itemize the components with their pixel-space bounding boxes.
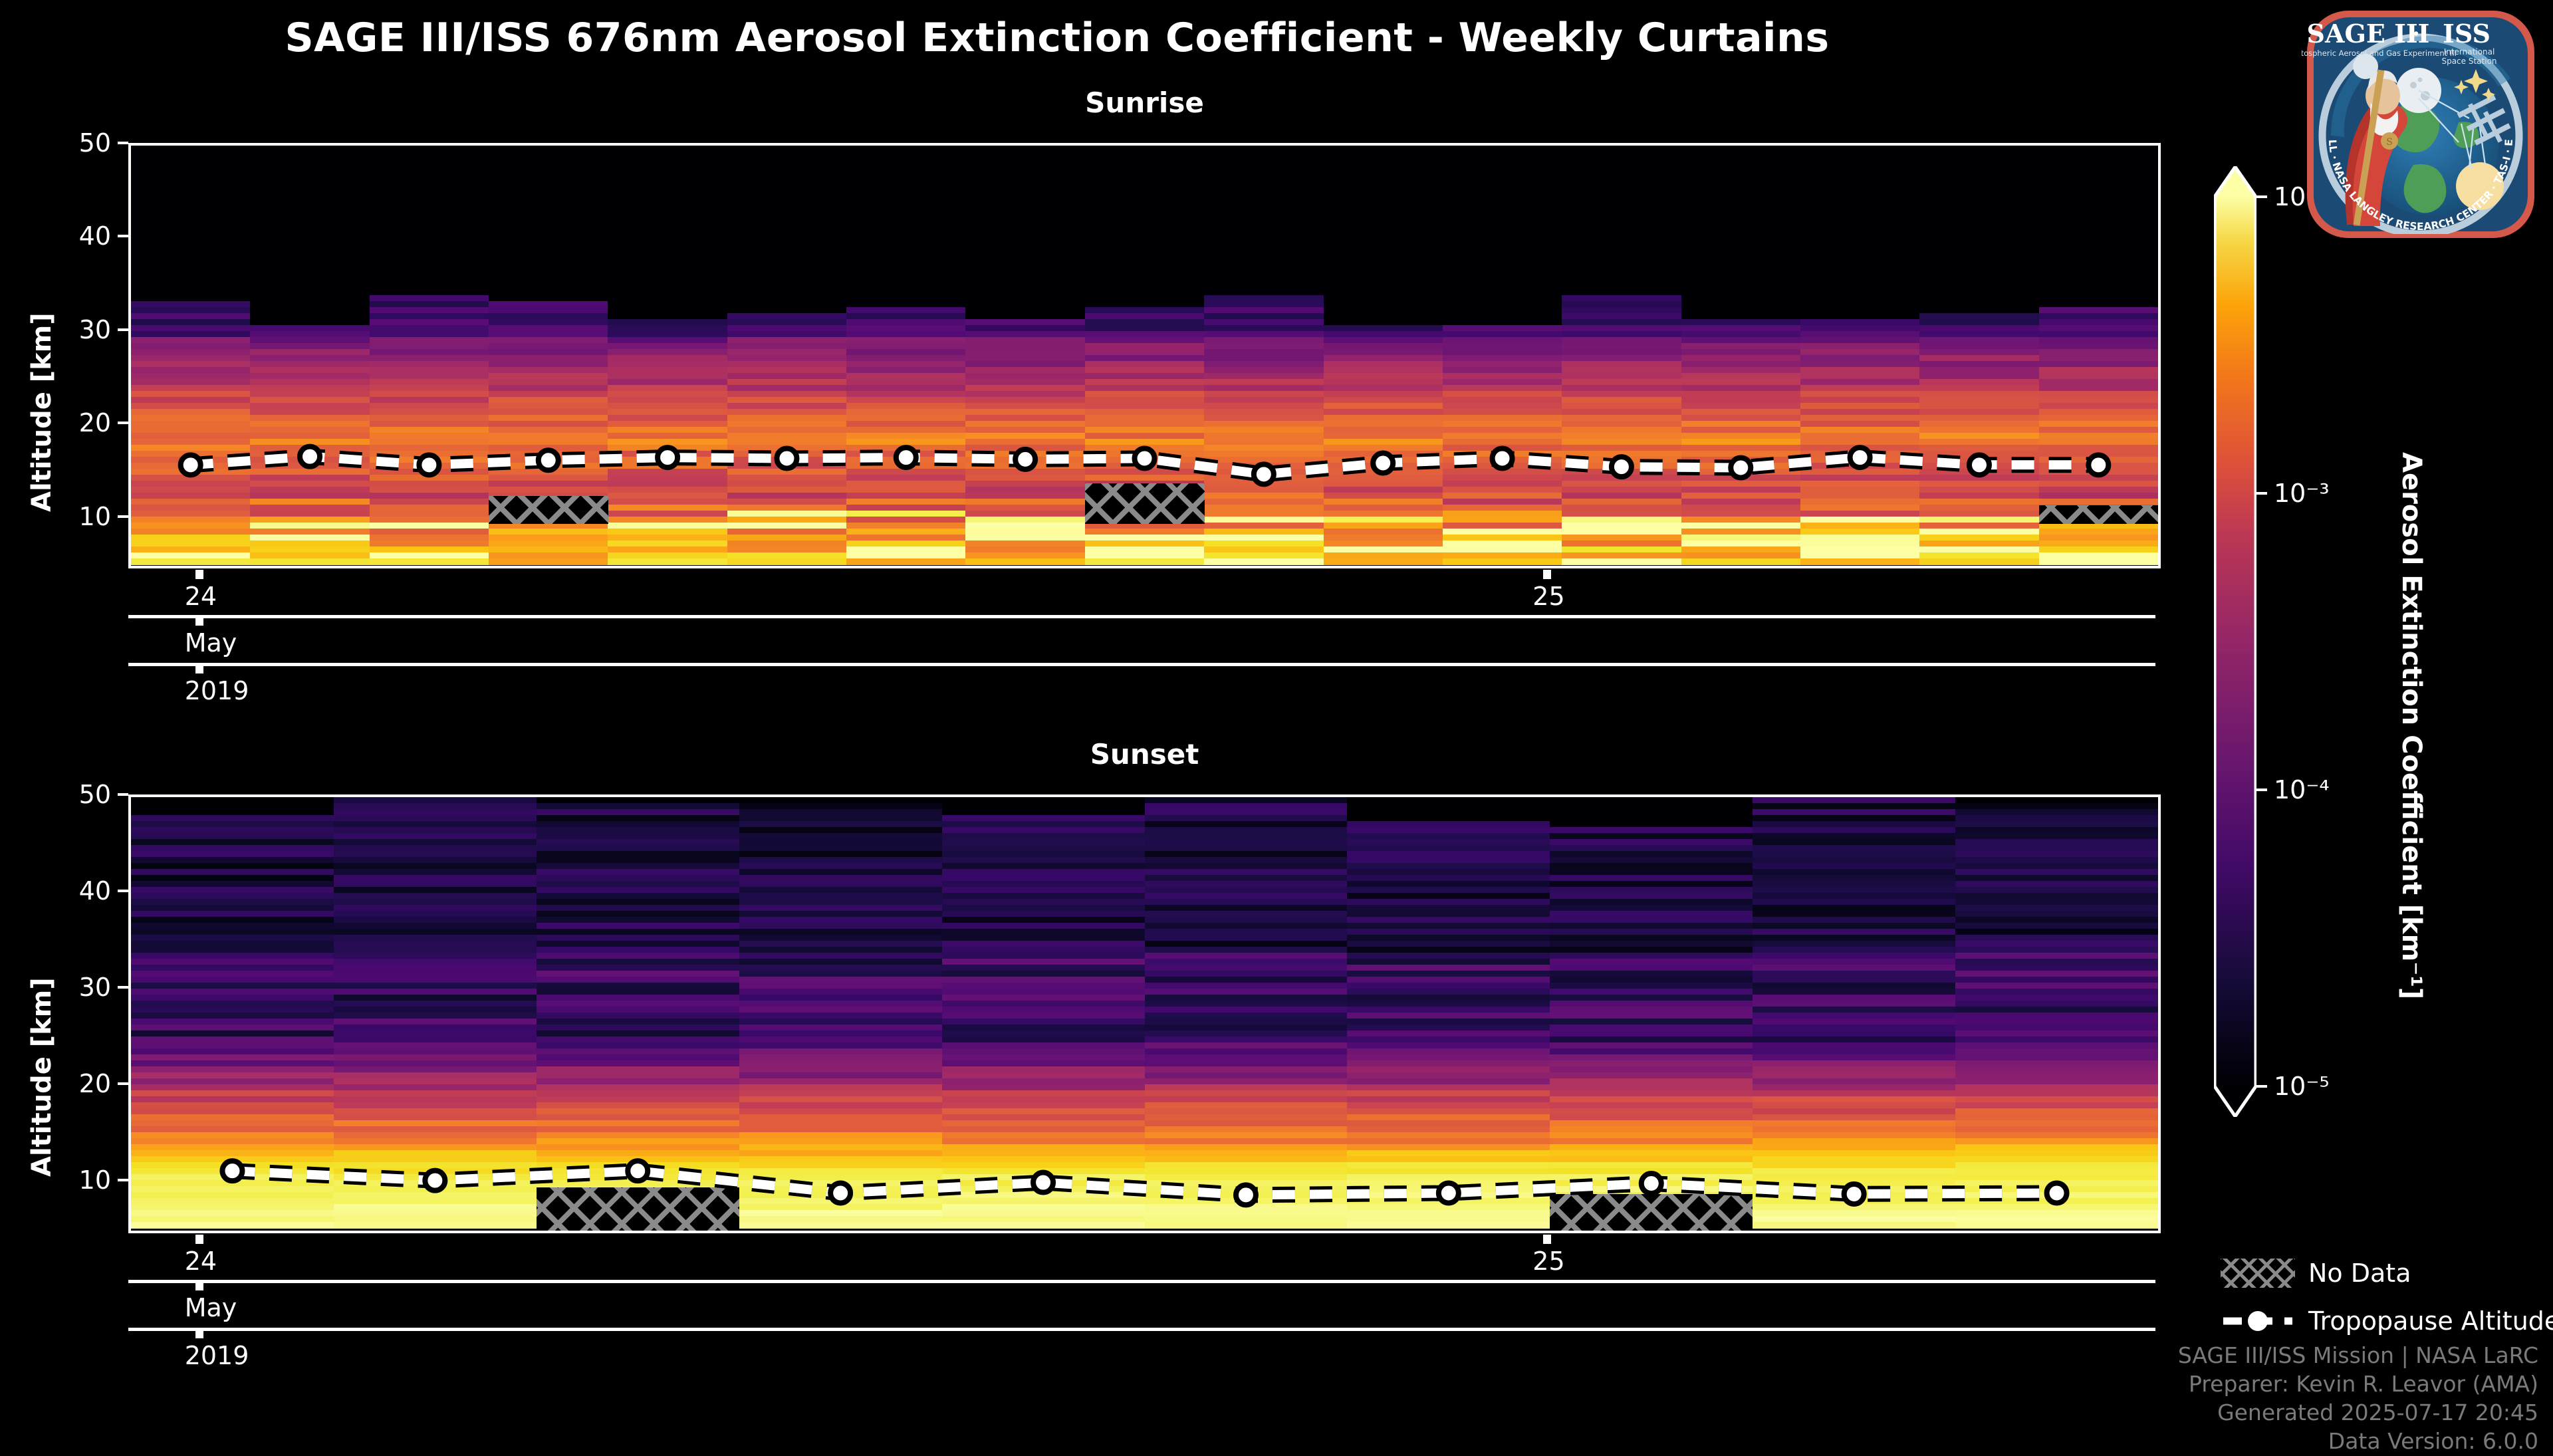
- y-axis-tick-label: 40: [79, 876, 111, 906]
- heatmap-cell: [250, 558, 370, 565]
- x-axis-level-separator: [128, 615, 2155, 618]
- legend: No DataTropopause Altitude: [2221, 1253, 2553, 1346]
- heatmap-column: [942, 797, 1146, 1231]
- tropopause-line-icon: [2221, 1301, 2295, 1341]
- logo-title-sep: ·: [2412, 21, 2420, 47]
- panel-sunrise: Sunrise Altitude [km] 10203040502425May2…: [0, 86, 2167, 592]
- heatmap-column: [2039, 146, 2159, 566]
- heatmap-cell: [1145, 1222, 1348, 1229]
- x-axis-tick-label-year: 2019: [185, 676, 249, 705]
- x-axis-tick-mark: [195, 1329, 203, 1338]
- heatmap-cell: [608, 558, 728, 565]
- sage-iii-iss-logo: S SAGE III · ISS Stratospheric Aerosol a…: [2302, 5, 2540, 243]
- y-axis-tick-label: 10: [79, 1165, 111, 1195]
- heatmap-cell: [1324, 558, 1444, 565]
- y-axis-tick-label: 30: [79, 315, 111, 344]
- x-axis-tick-label-day: 24: [185, 582, 217, 611]
- y-axis-tick-mark: [118, 515, 128, 518]
- heatmap-column: [1324, 146, 1444, 566]
- heatmap-column: [1800, 146, 1921, 566]
- heatmap-column: [608, 146, 728, 566]
- heatmap-column: [739, 797, 943, 1231]
- legend-item[interactable]: Tropopause Altitude: [2221, 1301, 2553, 1341]
- logo-title-iss: ISS: [2443, 19, 2491, 49]
- logo-svg: S SAGE III · ISS Stratospheric Aerosol a…: [2302, 5, 2540, 243]
- heatmap-column: [131, 146, 251, 566]
- x-axis-tick-mark: [1543, 570, 1551, 579]
- colorbar: Aerosol Extinction Coefficient [km⁻¹] 10…: [2214, 166, 2256, 1117]
- x-axis-tick-label-month: May: [185, 1293, 237, 1322]
- heatmap-cell: [1919, 558, 2040, 565]
- y-axis-tick-label: 50: [79, 128, 111, 158]
- footer-line: SAGE III/ISS Mission | NASA LaRC: [2178, 1342, 2538, 1370]
- heatmap-cell: [1204, 558, 1324, 565]
- x-axis-tick-mark: [1543, 1235, 1551, 1244]
- y-axis-label-sunrise: Altitude [km]: [27, 312, 57, 512]
- heatmap-column: [1145, 797, 1348, 1231]
- no-data-hatch-region: [489, 496, 608, 524]
- colorbar-tick-mark: [2256, 1085, 2267, 1088]
- y-axis-tick-label: 20: [79, 1069, 111, 1098]
- heatmap-column: [250, 146, 370, 566]
- heatmap-cell: [1562, 558, 1682, 565]
- footer-credits: SAGE III/ISS Mission | NASA LaRCPreparer…: [2178, 1342, 2538, 1456]
- heatmap-column: [965, 146, 1086, 566]
- legend-item-label: Tropopause Altitude: [2308, 1306, 2553, 1336]
- no-data-hatch-region: [1550, 1194, 1753, 1231]
- heatmap-cell: [965, 558, 1086, 565]
- heatmap-cell: [1443, 558, 1563, 565]
- panel-sunset: Sunset Altitude [km] 10203040502425May20…: [0, 738, 2167, 1270]
- no-data-hatch-region: [2039, 505, 2159, 524]
- heatmap-cell: [1753, 1222, 1956, 1229]
- heatmap-column: [537, 797, 740, 1231]
- legend-item[interactable]: No Data: [2221, 1253, 2553, 1293]
- page-title: SAGE III/ISS 676nm Aerosol Extinction Co…: [0, 15, 2114, 61]
- colorbar-tick-mark: [2256, 492, 2267, 495]
- heatmap-cell: [739, 1222, 943, 1229]
- heatmap-column: [334, 797, 537, 1231]
- plot-area-sunset: [128, 794, 2161, 1233]
- svg-text:S: S: [2386, 137, 2393, 148]
- heatmap-column: [727, 146, 848, 566]
- footer-line: Generated 2025-07-17 20:45: [2178, 1399, 2538, 1427]
- x-axis-level-separator: [128, 663, 2155, 666]
- heatmap-cell: [846, 558, 967, 565]
- x-axis-tick-label-day: 25: [1532, 1247, 1564, 1276]
- colorbar-tick-mark: [2256, 195, 2267, 198]
- colorbar-gradient: [2214, 197, 2256, 1086]
- panel-title-sunset: Sunset: [128, 738, 2161, 771]
- heatmap-column: [1955, 797, 2159, 1231]
- y-axis-tick-label: 30: [79, 973, 111, 1002]
- heatmap-cell: [1800, 558, 1921, 565]
- colorbar-tick-mark: [2256, 789, 2267, 791]
- heatmap-cell: [489, 558, 609, 565]
- panel-title-sunrise: Sunrise: [128, 86, 2161, 119]
- heatmap-cell: [370, 558, 490, 565]
- x-axis-tick-mark: [195, 616, 203, 626]
- x-axis-level-separator: [128, 1280, 2155, 1283]
- heatmap-column: [131, 797, 334, 1231]
- x-axis-tick-label-day: 25: [1532, 582, 1564, 611]
- y-axis-tick-mark: [118, 328, 128, 331]
- heatmap-cell: [131, 558, 251, 565]
- x-axis-tick-mark: [195, 1281, 203, 1290]
- y-axis-tick-mark: [118, 142, 128, 144]
- logo-subtitle-right-1: International: [2444, 47, 2495, 57]
- logo-title-main: SAGE III: [2307, 19, 2430, 49]
- y-axis-label-sunset: Altitude [km]: [27, 977, 57, 1177]
- colorbar-tick-label: 10⁻³: [2274, 479, 2330, 508]
- heatmap-cell: [727, 558, 848, 565]
- footer-line: Data Version: 6.0.0: [2178, 1427, 2538, 1456]
- x-axis-level-separator: [128, 1328, 2155, 1331]
- heatmap-cell: [334, 1222, 537, 1229]
- no-data-hatch-region: [1085, 483, 1205, 523]
- legend-item-label: No Data: [2308, 1259, 2411, 1288]
- colorbar-tick-label: 10⁻⁵: [2274, 1072, 2330, 1101]
- x-axis-tick-label-day: 24: [185, 1247, 217, 1276]
- y-axis-tick-label: 20: [79, 408, 111, 437]
- no-data-hatch-region: [537, 1187, 739, 1231]
- colorbar-tick-label: 10⁻⁴: [2274, 775, 2330, 804]
- no-data-swatch-icon: [2221, 1259, 2295, 1288]
- heatmap-cell: [2039, 558, 2159, 565]
- y-axis-tick-label: 40: [79, 221, 111, 251]
- heatmap-column: [1562, 146, 1682, 566]
- heatmap-cell: [1681, 558, 1802, 565]
- heatmap-column: [1204, 146, 1324, 566]
- heatmap-cell: [1955, 1222, 2159, 1229]
- logo-subtitle-left: Stratospheric Aerosol and Gas Experiment…: [2302, 49, 2457, 58]
- footer-line: Preparer: Kevin R. Leavor (AMA): [2178, 1370, 2538, 1399]
- y-axis-tick-label: 10: [79, 502, 111, 531]
- x-axis-tick-mark: [195, 570, 203, 579]
- x-axis-tick-label-year: 2019: [185, 1341, 249, 1370]
- heatmap-column: [1550, 797, 1753, 1231]
- heatmap-column: [1443, 146, 1563, 566]
- heatmap-cell: [1085, 558, 1205, 565]
- y-axis-tick-mark: [118, 1082, 128, 1085]
- colorbar-gradient-fill: [2214, 197, 2256, 1086]
- x-axis-tick-label-month: May: [185, 628, 237, 658]
- logo-subtitle-right-2: Space Station: [2441, 57, 2496, 66]
- heatmap-cell: [1347, 1222, 1550, 1229]
- plot-area-sunrise: [128, 143, 2161, 568]
- colorbar-label: Aerosol Extinction Coefficient [km⁻¹]: [2396, 452, 2427, 999]
- heatmap-column: [1681, 146, 1802, 566]
- heatmap-column: [1919, 146, 2040, 566]
- figure-root: SAGE III/ISS 676nm Aerosol Extinction Co…: [0, 0, 2553, 1436]
- y-axis-tick-mark: [118, 235, 128, 237]
- y-axis-tick-mark: [118, 986, 128, 989]
- heatmap-cell: [131, 1222, 334, 1229]
- heatmap-column: [1347, 797, 1550, 1231]
- heatmap-column: [846, 146, 967, 566]
- y-axis-tick-mark: [118, 793, 128, 796]
- heatmap-cell: [942, 1222, 1146, 1229]
- y-axis-tick-mark: [118, 422, 128, 424]
- heatmap-column: [1753, 797, 1956, 1231]
- heatmap-column: [370, 146, 490, 566]
- y-axis-tick-label: 50: [79, 780, 111, 809]
- x-axis-tick-mark: [195, 664, 203, 673]
- y-axis-tick-mark: [118, 890, 128, 892]
- x-axis-tick-mark: [195, 1235, 203, 1244]
- y-axis-tick-mark: [118, 1179, 128, 1181]
